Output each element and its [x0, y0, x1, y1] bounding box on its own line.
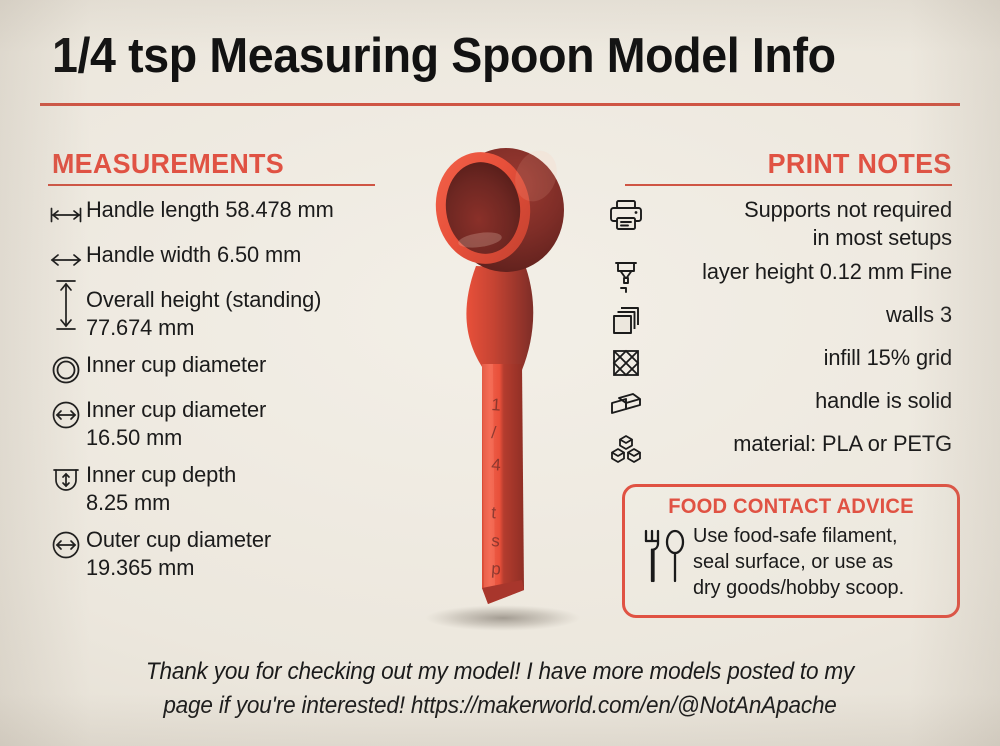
food-contact-advice-box: FOOD CONTACT ADVICE Use food-safe filame…	[622, 484, 960, 618]
advice-heading: FOOD CONTACT ADVICE	[632, 495, 951, 519]
list-item-label: Overall height (standing) 77.674 mm	[86, 286, 321, 342]
svg-text:4: 4	[491, 455, 502, 475]
list-item-label: handle is solid	[661, 387, 952, 415]
svg-text:1: 1	[491, 395, 502, 415]
list-item-label: Inner cup depth 8.25 mm	[86, 461, 236, 517]
svg-text:p: p	[491, 559, 502, 579]
spoon-illustration: 1 / 4 t s p	[398, 118, 608, 638]
advice-text: Use food-safe filament, seal surface, or…	[693, 523, 937, 601]
measurements-list: Handle length 58.478 mm Handle width 6.5…	[46, 196, 436, 591]
measurements-divider	[48, 184, 375, 186]
list-item-label: material: PLA or PETG	[661, 430, 952, 458]
list-item-label: Handle width 6.50 mm	[86, 241, 301, 269]
list-item-label: Inner cup diameter 16.50 mm	[86, 396, 266, 452]
list-item-label: Supports not required in most setups	[661, 196, 952, 252]
list-item-label: Inner cup diameter	[86, 351, 266, 379]
list-item-label: walls 3	[661, 301, 952, 329]
title-divider	[40, 103, 960, 106]
inner-cup-depth-icon	[46, 463, 86, 497]
infographic-page: 1/4 tsp Measuring Spoon Model Info MEASU…	[0, 0, 1000, 746]
inner-cup-diameter-icon	[46, 398, 86, 432]
list-item: Inner cup diameter 16.50 mm	[46, 396, 436, 452]
list-item: Inner cup depth 8.25 mm	[46, 461, 436, 517]
list-item: Outer cup diameter 19.365 mm	[46, 526, 436, 582]
spoon-shadow	[425, 605, 581, 631]
print-notes-list: Supports not required in most setups lay…	[600, 196, 952, 473]
svg-text:s: s	[491, 531, 501, 551]
list-item: walls 3	[600, 301, 952, 338]
list-item-label: layer height 0.12 mm Fine	[661, 258, 952, 286]
overall-height-icon	[46, 288, 86, 322]
print-notes-heading: PRINT NOTES	[768, 148, 952, 180]
handle-width-icon	[46, 243, 86, 277]
list-item-label: Handle length 58.478 mm	[86, 196, 334, 224]
list-item: infill 15% grid	[600, 344, 952, 381]
list-item-label: infill 15% grid	[661, 344, 952, 372]
list-item: layer height 0.12 mm Fine	[600, 258, 952, 295]
outer-cup-diameter-icon	[46, 528, 86, 562]
spoon-neck	[466, 266, 533, 370]
handle-length-icon	[46, 198, 86, 232]
list-item: Handle width 6.50 mm	[46, 241, 436, 277]
footer-note: Thank you for checking out my model! I h…	[77, 655, 923, 723]
list-item: Overall height (standing) 77.674 mm	[46, 286, 436, 342]
list-item: handle is solid	[600, 387, 952, 424]
page-title: 1/4 tsp Measuring Spoon Model Info	[52, 28, 907, 84]
inner-cup-circle-icon	[46, 353, 86, 387]
list-item: Supports not required in most setups	[600, 196, 952, 252]
advice-body: Use food-safe filament, seal surface, or…	[625, 519, 957, 601]
measurements-heading: MEASUREMENTS	[52, 148, 284, 180]
list-item: Handle length 58.478 mm	[46, 196, 436, 232]
list-item-label: Outer cup diameter 19.365 mm	[86, 526, 271, 582]
print-notes-divider	[625, 184, 952, 186]
list-item: Inner cup diameter	[46, 351, 436, 387]
fork-spoon-icon	[635, 525, 693, 587]
list-item: material: PLA or PETG	[600, 430, 952, 467]
